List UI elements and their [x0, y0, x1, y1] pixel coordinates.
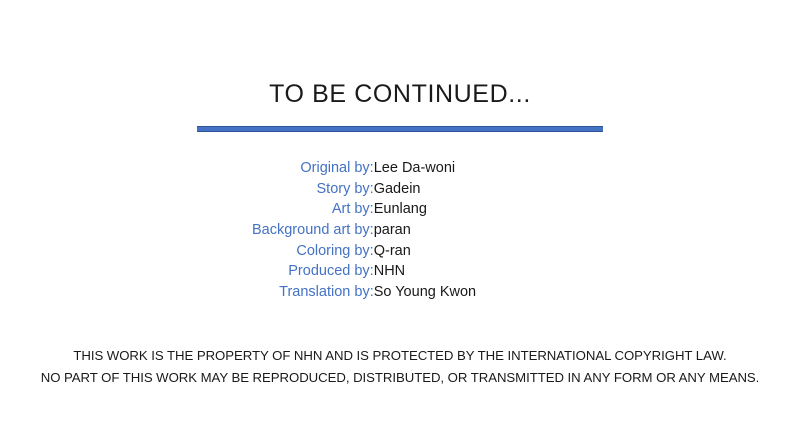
credits-block: Original by: Lee Da-woni Story by: Gadei… [0, 158, 800, 302]
copyright-line-1: THIS WORK IS THE PROPERTY OF NHN AND IS … [0, 345, 800, 367]
credit-label: Story by: [252, 179, 374, 200]
credits-slide: TO BE CONTINUED... Original by: Lee Da-w… [0, 0, 800, 427]
credit-label: Background art by: [252, 220, 374, 241]
title-block: TO BE CONTINUED... [0, 80, 800, 108]
table-row: Art by: Eunlang [252, 199, 476, 220]
credit-value: Lee Da-woni [374, 158, 476, 179]
credit-label: Translation by: [252, 282, 374, 303]
credit-label: Original by: [252, 158, 374, 179]
table-row: Coloring by: Q-ran [252, 240, 476, 261]
credit-value: Gadein [374, 179, 476, 200]
credit-value: NHN [374, 261, 476, 282]
credit-value: Q-ran [374, 240, 476, 261]
credit-label: Produced by: [252, 261, 374, 282]
table-row: Original by: Lee Da-woni [252, 158, 476, 179]
credits-table-body: Original by: Lee Da-woni Story by: Gadei… [252, 158, 476, 302]
credit-label: Art by: [252, 199, 374, 220]
copyright-line-2: NO PART OF THIS WORK MAY BE REPRODUCED, … [0, 367, 800, 389]
divider [197, 126, 603, 133]
table-row: Story by: Gadein [252, 179, 476, 200]
page-title: TO BE CONTINUED... [269, 80, 531, 108]
divider-bar [197, 126, 603, 132]
copyright-block: THIS WORK IS THE PROPERTY OF NHN AND IS … [0, 345, 800, 388]
credit-value: paran [374, 220, 476, 241]
table-row: Background art by: paran [252, 220, 476, 241]
table-row: Translation by: So Young Kwon [252, 282, 476, 303]
credit-value: Eunlang [374, 199, 476, 220]
credit-value: So Young Kwon [374, 282, 476, 303]
credits-table: Original by: Lee Da-woni Story by: Gadei… [252, 158, 476, 302]
table-row: Produced by: NHN [252, 261, 476, 282]
credit-label: Coloring by: [252, 240, 374, 261]
